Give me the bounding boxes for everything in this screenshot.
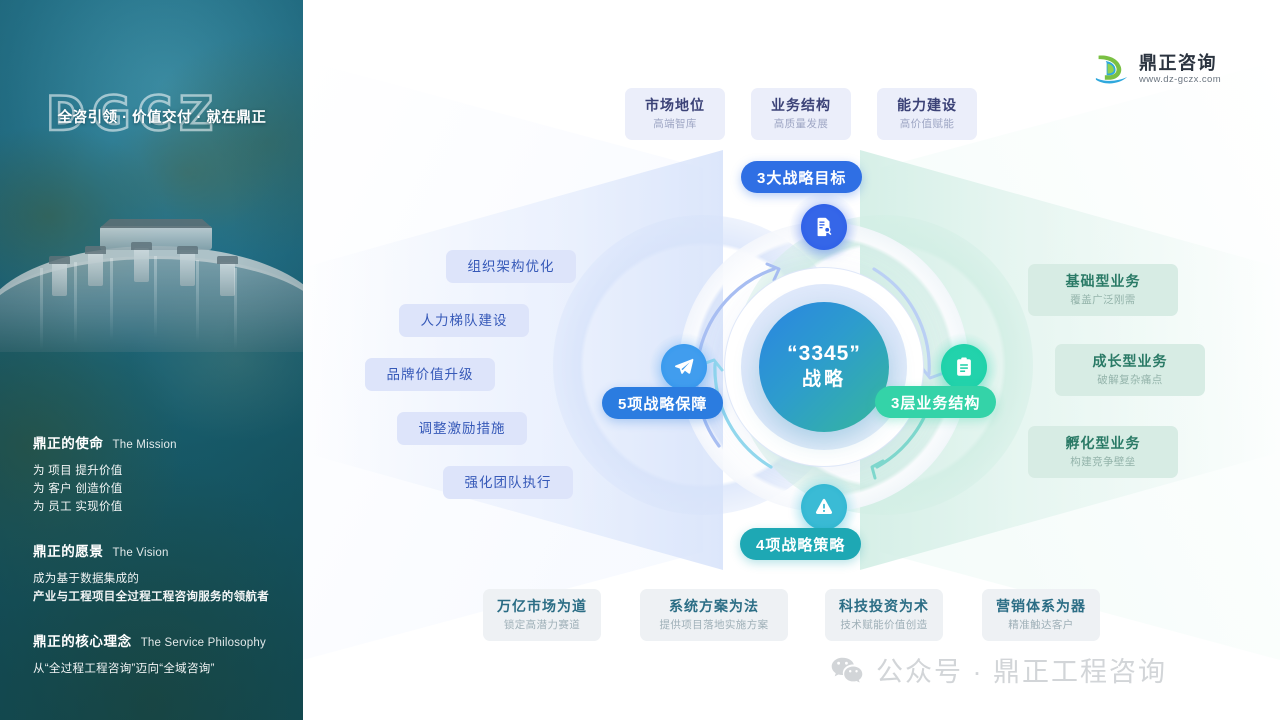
philosophy-text-group: 鼎正的使命 The Mission 为 项目 提升价值 为 客户 创造价值 为 … (33, 432, 283, 678)
wechat-footer[interactable]: 公众号 · 鼎正工程咨询 (830, 650, 1167, 689)
wechat-icon (830, 655, 864, 685)
brand-wordmark: DGCZ 全咨引领 · 价值交付 · 就在鼎正 (44, 88, 276, 144)
card-subtitle: 覆盖广泛刚需 (1070, 293, 1135, 308)
logo-text-group: 鼎正咨询 www.dz-gczx.com (1139, 53, 1221, 85)
philosophy-title-en: The Service Philosophy (141, 637, 266, 649)
bottom-card-trillion-market[interactable]: 万亿市场为道 锁定高潜力赛道 (483, 589, 601, 641)
diagram-area: 市场地位 高端智库 业务结构 高质量发展 能力建设 高价值赋能 组织架构优化 人… (303, 0, 1280, 720)
card-title: 业务结构 (771, 96, 831, 115)
mission-line: 为 员工 实现价值 (33, 498, 283, 516)
card-subtitle: 破解复杂痛点 (1097, 373, 1162, 388)
pill-strategy-tactics[interactable]: 4项战略策略 (740, 528, 861, 560)
pill-business-structure[interactable]: 3层业务结构 (875, 386, 996, 418)
card-title: 成长型业务 (1093, 352, 1168, 371)
card-title: 市场地位 (645, 96, 705, 115)
vision-line: 成为基于数据集成的 (33, 570, 283, 588)
left-card-team-execution[interactable]: 强化团队执行 (443, 466, 573, 499)
right-card-foundation-business[interactable]: 基础型业务 覆盖广泛刚需 (1028, 264, 1178, 316)
bottom-card-system-solution[interactable]: 系统方案为法 提供项目落地实施方案 (640, 589, 788, 641)
philosophy-heading: 鼎正的核心理念 The Service Philosophy (33, 630, 283, 650)
mission-line: 为 客户 创造价值 (33, 480, 283, 498)
card-title: 基础型业务 (1066, 272, 1141, 291)
node-strategy-goals[interactable] (801, 204, 847, 250)
mission-title-cn: 鼎正的使命 (33, 432, 104, 452)
mission-heading: 鼎正的使命 The Mission (33, 432, 283, 452)
pill-strategy-guarantees[interactable]: 5项战略保障 (602, 387, 723, 419)
brand-slogan: 全咨引领 · 价值交付 · 就在鼎正 (48, 106, 276, 127)
right-card-incubation-business[interactable]: 孵化型业务 构建竞争壁垒 (1028, 426, 1178, 478)
left-brand-panel: DGCZ 全咨引领 · 价值交付 · 就在鼎正 鼎正的使命 The Missio… (0, 0, 303, 720)
core-label-name: “3345” (787, 341, 861, 367)
card-subtitle: 精准触达客户 (1008, 618, 1073, 633)
card-title: 品牌价值升级 (387, 365, 474, 384)
philosophy-title-cn: 鼎正的核心理念 (33, 630, 132, 650)
card-title: 科技投资为术 (839, 597, 929, 616)
card-title: 系统方案为法 (669, 597, 759, 616)
card-subtitle: 构建竞争壁垒 (1070, 455, 1135, 470)
top-card-business-structure[interactable]: 业务结构 高质量发展 (751, 88, 851, 140)
card-title: 万亿市场为道 (497, 597, 587, 616)
card-title: 人力梯队建设 (421, 311, 508, 330)
mission-block: 鼎正的使命 The Mission 为 项目 提升价值 为 客户 创造价值 为 … (33, 432, 283, 516)
card-subtitle: 锁定高潜力赛道 (504, 618, 580, 633)
paper-plane-icon (673, 356, 695, 378)
node-strategy-tactics[interactable] (801, 484, 847, 530)
mission-title-en: The Mission (113, 439, 177, 451)
mission-line: 为 项目 提升价值 (33, 462, 283, 480)
top-card-market-position[interactable]: 市场地位 高端智库 (625, 88, 725, 140)
slide-canvas: DGCZ 全咨引领 · 价值交付 · 就在鼎正 鼎正的使命 The Missio… (0, 0, 1280, 720)
right-card-growth-business[interactable]: 成长型业务 破解复杂痛点 (1055, 344, 1205, 396)
left-card-incentives[interactable]: 调整激励措施 (397, 412, 527, 445)
logo-website: www.dz-gczx.com (1139, 74, 1221, 85)
document-search-icon (813, 216, 835, 238)
card-title: 孵化型业务 (1066, 434, 1141, 453)
node-strategy-guarantees[interactable] (661, 344, 707, 390)
vision-block: 鼎正的愿景 The Vision 成为基于数据集成的 产业与工程项目全过程工程咨… (33, 540, 283, 606)
bottom-card-marketing-system[interactable]: 营销体系为器 精准触达客户 (982, 589, 1100, 641)
logo-company-name: 鼎正咨询 (1139, 53, 1221, 73)
card-title: 能力建设 (897, 96, 957, 115)
top-card-capability-building[interactable]: 能力建设 高价值赋能 (877, 88, 977, 140)
card-subtitle: 高价值赋能 (900, 117, 955, 132)
strategy-wheel: “3345” 战略 (679, 222, 969, 512)
warning-triangle-icon (813, 496, 835, 518)
left-card-org-structure[interactable]: 组织架构优化 (446, 250, 576, 283)
core-label-suffix: 战略 (802, 367, 846, 393)
card-subtitle: 高质量发展 (774, 117, 829, 132)
card-title: 调整激励措施 (419, 419, 506, 438)
vision-line: 产业与工程项目全过程工程咨询服务的领航者 (33, 588, 283, 606)
clipboard-icon (953, 356, 975, 378)
vision-title-cn: 鼎正的愿景 (33, 540, 104, 560)
vision-title-en: The Vision (113, 547, 169, 559)
bottom-card-tech-investment[interactable]: 科技投资为术 技术赋能价值创造 (825, 589, 943, 641)
philosophy-line: 从“全过程工程咨询”迈向“全域咨询” (33, 660, 283, 678)
company-logo[interactable]: 鼎正咨询 www.dz-gczx.com (1094, 52, 1221, 86)
dz-leaf-logo-icon (1094, 52, 1130, 86)
left-card-talent-pipeline[interactable]: 人力梯队建设 (399, 304, 529, 337)
card-title: 强化团队执行 (465, 473, 552, 492)
card-subtitle: 技术赋能价值创造 (840, 618, 927, 633)
card-subtitle: 提供项目落地实施方案 (660, 618, 769, 633)
left-card-brand-value[interactable]: 品牌价值升级 (365, 358, 495, 391)
node-business-structure[interactable] (941, 344, 987, 390)
wechat-account-name: 公众号 · 鼎正工程咨询 (876, 650, 1167, 689)
card-title: 组织架构优化 (468, 257, 555, 276)
vision-heading: 鼎正的愿景 The Vision (33, 540, 283, 560)
card-subtitle: 高端智库 (653, 117, 697, 132)
philosophy-block: 鼎正的核心理念 The Service Philosophy 从“全过程工程咨询… (33, 630, 283, 678)
card-title: 营销体系为器 (996, 597, 1086, 616)
pill-strategy-goals[interactable]: 3大战略目标 (741, 161, 862, 193)
strategy-core: “3345” 战略 (759, 302, 889, 432)
